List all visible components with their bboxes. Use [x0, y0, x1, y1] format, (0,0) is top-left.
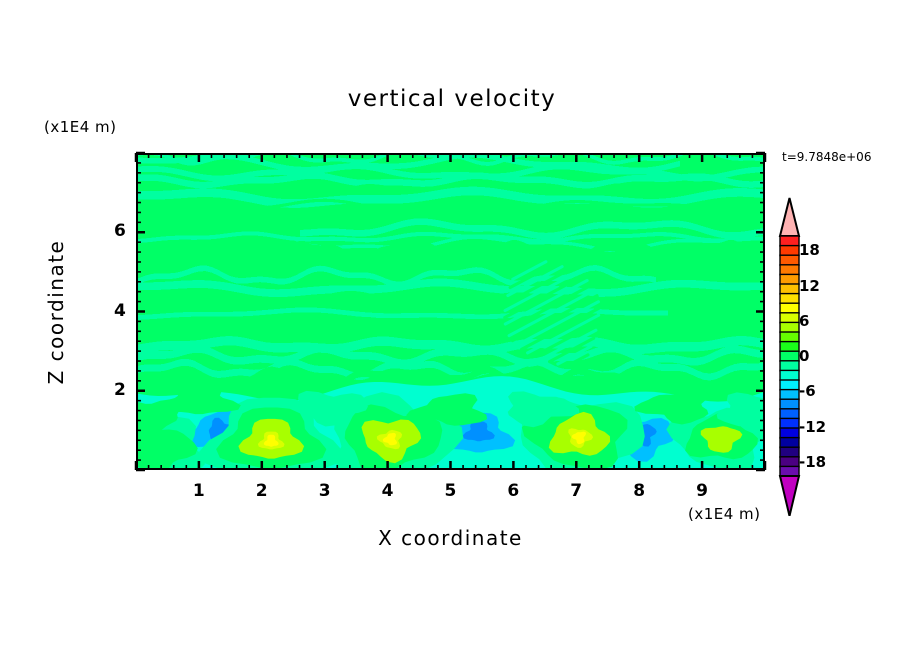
colorbar: 181260-6-12-18	[770, 196, 830, 516]
y-tick-label: 2	[114, 380, 126, 400]
colorbar-tick-label: 6	[799, 312, 809, 330]
colorbar-band	[780, 438, 799, 448]
colorbar-band	[780, 466, 799, 476]
colorbar-over-arrow	[780, 198, 799, 236]
colorbar-band	[780, 447, 799, 457]
colorbar-band	[780, 409, 799, 419]
colorbar-band	[780, 274, 799, 284]
contour-plot-area	[136, 153, 765, 470]
colorbar-band	[780, 342, 799, 352]
y-tick-label: 4	[114, 301, 126, 321]
x-tick-label: 8	[633, 481, 645, 501]
colorbar-tick-label: -18	[799, 453, 826, 471]
timestamp-label: t=9.7848e+06	[782, 150, 871, 164]
x-tick-label: 4	[382, 481, 394, 501]
colorbar-band	[780, 255, 799, 265]
colorbar-band	[780, 351, 799, 361]
colorbar-tick-label: -12	[799, 418, 826, 436]
colorbar-tick-label: 12	[799, 277, 820, 295]
colorbar-band	[780, 313, 799, 323]
colorbar-band	[780, 428, 799, 438]
x-tick-label: 3	[319, 481, 331, 501]
colorbar-band	[780, 418, 799, 428]
x-tick-label: 2	[256, 481, 268, 501]
contour-field	[136, 153, 765, 470]
y-axis-unit-label: (x1E4 m)	[44, 118, 117, 136]
colorbar-tick-label: 0	[799, 347, 809, 365]
x-tick-label: 1	[193, 481, 205, 501]
y-tick-label: 6	[114, 221, 126, 241]
colorbar-band	[780, 390, 799, 400]
colorbar-band	[780, 399, 799, 409]
colorbar-band	[780, 303, 799, 313]
colorbar-under-arrow	[780, 476, 799, 516]
colorbar-band	[780, 322, 799, 332]
chart-title: vertical velocity	[0, 86, 904, 112]
x-tick-label: 6	[507, 481, 519, 501]
colorbar-band	[780, 294, 799, 304]
colorbar-tick-label: -6	[799, 382, 816, 400]
x-axis-label: X coordinate	[136, 526, 765, 550]
colorbar-band	[780, 236, 799, 246]
x-tick-label: 9	[696, 481, 708, 501]
colorbar-band	[780, 361, 799, 371]
x-tick-label: 7	[570, 481, 582, 501]
colorbar-band	[780, 457, 799, 467]
colorbar-band	[780, 246, 799, 256]
colorbar-tick-label: 18	[799, 241, 820, 259]
y-axis-label: Z coordinate	[44, 232, 68, 392]
colorbar-band	[780, 332, 799, 342]
x-axis-unit-label: (x1E4 m)	[688, 505, 761, 523]
x-tick-label: 5	[445, 481, 457, 501]
colorbar-band	[780, 370, 799, 380]
colorbar-band	[780, 284, 799, 294]
colorbar-band	[780, 265, 799, 275]
colorbar-band	[780, 380, 799, 390]
